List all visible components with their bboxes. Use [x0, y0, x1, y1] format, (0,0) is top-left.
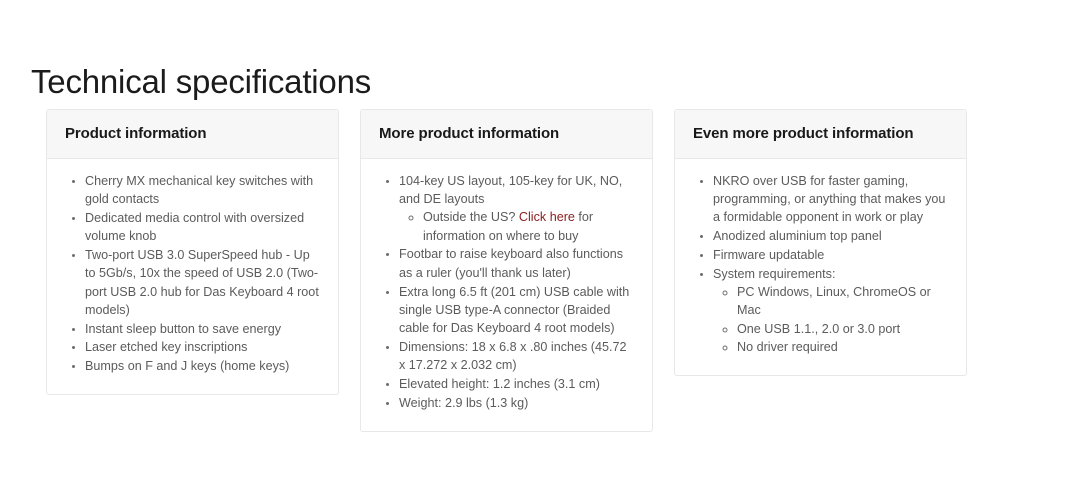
page-title: Technical specifications: [31, 62, 371, 102]
card-body: Cherry MX mechanical key switches with g…: [47, 159, 338, 394]
list-item: Bumps on F and J keys (home keys): [85, 357, 322, 375]
sub-list-item-text: One USB 1.1., 2.0 or 3.0 port: [737, 322, 900, 336]
sub-list-item: One USB 1.1., 2.0 or 3.0 port: [737, 320, 950, 338]
list-item: Footbar to raise keyboard also functions…: [399, 245, 636, 282]
list-item-text: Two-port USB 3.0 SuperSpeed hub - Up to …: [85, 248, 319, 317]
list-item: Elevated height: 1.2 inches (3.1 cm): [399, 375, 636, 393]
sub-list-item: Outside the US? Click here for informati…: [423, 208, 636, 245]
list-item-text: NKRO over USB for faster gaming, program…: [713, 174, 945, 225]
list-item: System requirements: PC Windows, Linux, …: [713, 265, 950, 356]
list-item-text: Anodized aluminium top panel: [713, 229, 882, 243]
list-item-text: Extra long 6.5 ft (201 cm) USB cable wit…: [399, 285, 629, 336]
list-item-text: Firmware updatable: [713, 248, 824, 262]
click-here-link[interactable]: Click here: [519, 210, 575, 224]
sub-list: PC Windows, Linux, ChromeOS or Mac One U…: [713, 283, 950, 356]
list-item-text: System requirements:: [713, 267, 835, 281]
spec-card-more-product-information: More product information 104-key US layo…: [360, 109, 653, 432]
list-item-text: 104-key US layout, 105-key for UK, NO, a…: [399, 174, 622, 206]
sub-list-item-text: No driver required: [737, 340, 838, 354]
sub-list-item: PC Windows, Linux, ChromeOS or Mac: [737, 283, 950, 320]
list-item-text: Elevated height: 1.2 inches (3.1 cm): [399, 377, 600, 391]
card-title: More product information: [379, 125, 634, 144]
list-item: Firmware updatable: [713, 246, 950, 264]
card-title: Product information: [65, 125, 320, 144]
spec-card-even-more-product-information: Even more product information NKRO over …: [674, 109, 967, 376]
technical-specifications-page: Technical specifications Product informa…: [0, 0, 1080, 498]
list-item-text: Cherry MX mechanical key switches with g…: [85, 174, 313, 206]
sub-list-item-text: PC Windows, Linux, ChromeOS or Mac: [737, 285, 931, 317]
spec-list: Cherry MX mechanical key switches with g…: [63, 172, 322, 376]
spec-cards-row: Product information Cherry MX mechanical…: [46, 109, 1034, 432]
list-item-text: Dedicated media control with oversized v…: [85, 211, 304, 243]
list-item: Anodized aluminium top panel: [713, 227, 950, 245]
sub-list-item-prefix: Outside the US?: [423, 210, 519, 224]
spec-list: NKRO over USB for faster gaming, program…: [691, 172, 950, 356]
list-item-text: Footbar to raise keyboard also functions…: [399, 247, 623, 279]
card-body: 104-key US layout, 105-key for UK, NO, a…: [361, 159, 652, 431]
list-item: NKRO over USB for faster gaming, program…: [713, 172, 950, 227]
card-header: Product information: [47, 110, 338, 159]
sub-list: Outside the US? Click here for informati…: [399, 208, 636, 245]
list-item: Dedicated media control with oversized v…: [85, 209, 322, 246]
card-header: Even more product information: [675, 110, 966, 159]
list-item-text: Instant sleep button to save energy: [85, 322, 281, 336]
card-title: Even more product information: [693, 125, 948, 144]
sub-list-item: No driver required: [737, 338, 950, 356]
list-item: Laser etched key inscriptions: [85, 338, 322, 356]
list-item: Weight: 2.9 lbs (1.3 kg): [399, 394, 636, 412]
list-item: 104-key US layout, 105-key for UK, NO, a…: [399, 172, 636, 245]
list-item: Extra long 6.5 ft (201 cm) USB cable wit…: [399, 283, 636, 338]
spec-list: 104-key US layout, 105-key for UK, NO, a…: [377, 172, 636, 412]
list-item: Dimensions: 18 x 6.8 x .80 inches (45.72…: [399, 338, 636, 375]
spec-card-product-information: Product information Cherry MX mechanical…: [46, 109, 339, 395]
list-item-text: Weight: 2.9 lbs (1.3 kg): [399, 396, 528, 410]
card-body: NKRO over USB for faster gaming, program…: [675, 159, 966, 375]
list-item-text: Bumps on F and J keys (home keys): [85, 359, 289, 373]
card-header: More product information: [361, 110, 652, 159]
list-item: Cherry MX mechanical key switches with g…: [85, 172, 322, 209]
list-item: Two-port USB 3.0 SuperSpeed hub - Up to …: [85, 246, 322, 319]
list-item-text: Laser etched key inscriptions: [85, 340, 247, 354]
list-item: Instant sleep button to save energy: [85, 320, 322, 338]
list-item-text: Dimensions: 18 x 6.8 x .80 inches (45.72…: [399, 340, 627, 372]
